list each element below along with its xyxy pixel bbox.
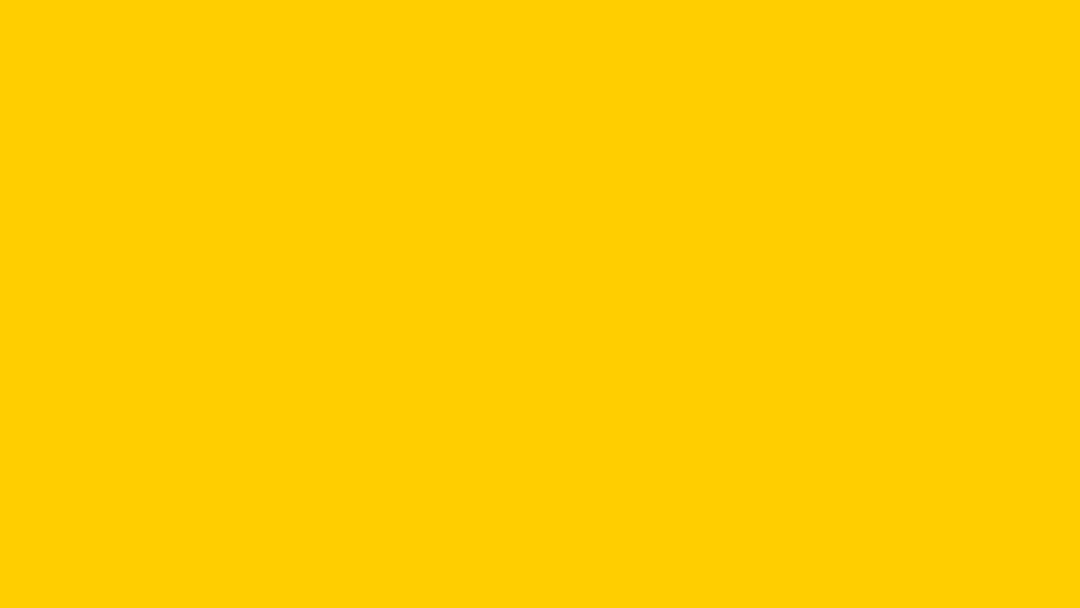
car-windshield [567, 252, 840, 349]
poster-canvas: DRIVE DRIVE THE DREAM EXPERIENCE THE FUT… [0, 0, 1080, 608]
yellow-circle-overlay [36, 358, 232, 554]
car-side-mirror [429, 352, 463, 368]
car-wheel [473, 405, 566, 524]
diagonal-hazard-stripes-top [96, 47, 528, 72]
diagonal-hazard-stripes-bottom [694, 541, 962, 566]
classic-car [429, 211, 1026, 523]
car-driver [480, 274, 523, 336]
hero-photo-card [427, 48, 1028, 556]
car-headlight [933, 377, 989, 430]
hero-photo-image [429, 50, 1026, 554]
car-wheel [802, 405, 895, 524]
